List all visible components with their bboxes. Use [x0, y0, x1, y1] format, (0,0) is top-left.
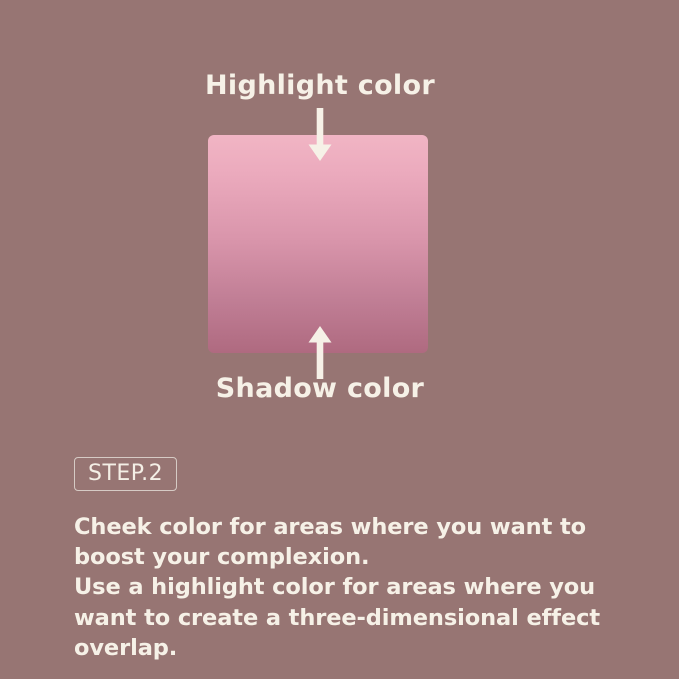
arrow-down-icon [305, 108, 335, 162]
gradient-color-swatch [208, 135, 428, 353]
color-swatch-section: Highlight color Shadow color [0, 0, 679, 440]
instruction-card: Highlight color Shadow color STEP.2 Chee… [0, 0, 679, 679]
step-description: Cheek color for areas where you want to … [74, 512, 634, 663]
arrow-up-icon [305, 325, 335, 379]
step-badge: STEP.2 [74, 457, 177, 491]
step-instruction-block: STEP.2 Cheek color for areas where you w… [74, 457, 634, 663]
step-paragraph-1: Cheek color for areas where you want to … [74, 512, 634, 572]
shadow-color-label: Shadow color [0, 374, 640, 404]
highlight-color-label: Highlight color [0, 71, 640, 101]
step-paragraph-2: Use a highlight color for areas where yo… [74, 572, 634, 662]
